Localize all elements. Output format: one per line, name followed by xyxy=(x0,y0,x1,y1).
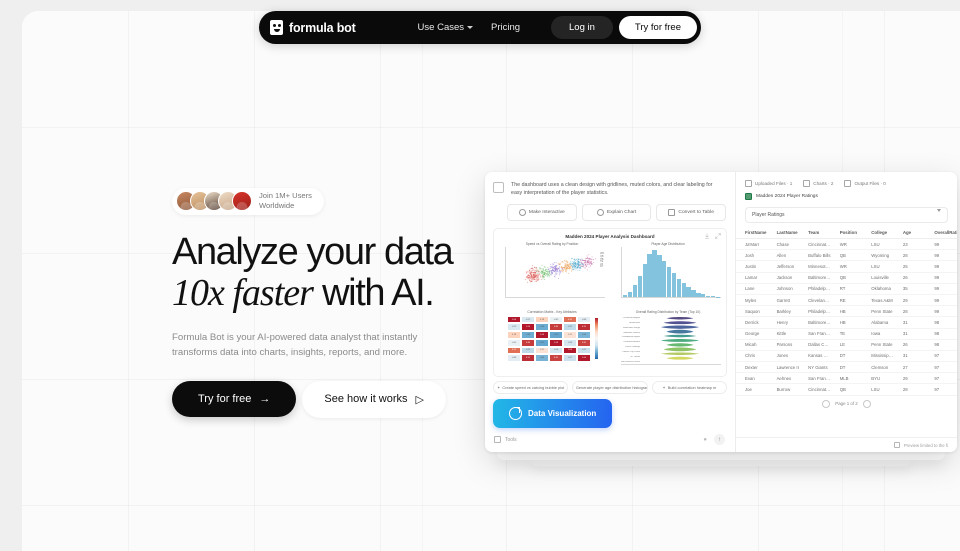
table-cell: 99 xyxy=(925,272,957,283)
table-cell: 31 xyxy=(894,328,926,339)
table-column-header[interactable]: College xyxy=(862,227,894,239)
histogram-bar xyxy=(701,294,705,297)
table-cell: 25 xyxy=(894,261,926,272)
heatmap-cell: -0.48 xyxy=(521,331,535,339)
table-cell: Micah xyxy=(736,339,768,350)
table-row[interactable]: ChrisJonesKansas City Chi...DTMississipp… xyxy=(736,350,957,361)
brand-logo[interactable]: formula bot xyxy=(270,20,356,35)
table-cell: San Francisco ... xyxy=(799,328,831,339)
table-cell: 99 xyxy=(925,261,957,272)
table-cell: Barkley xyxy=(768,306,800,317)
heatmap-cells: 1.00-0.120.18-0.050.62-0.08-0.121.00-0.4… xyxy=(507,316,591,362)
sparkle-icon: ✦ xyxy=(572,385,574,390)
table-cell: Cincinnati Beng... xyxy=(799,384,831,395)
table-column-header[interactable]: Position xyxy=(831,227,863,239)
avatar xyxy=(232,191,252,211)
heatmap-cell: -0.05 xyxy=(507,339,521,347)
table-cell: LSU xyxy=(862,384,894,395)
heatmap-cell: 1.00 xyxy=(535,331,549,339)
panel-violin: Overall Rating Distribution by Team (Top… xyxy=(610,307,726,374)
suggestion-chips: ✦ Create speed vs catcing bubble plot ✦ … xyxy=(485,377,735,397)
table-cell: 98 xyxy=(925,328,957,339)
heading-italic: 10x faster xyxy=(172,272,313,314)
heatmap-cell: 1.00 xyxy=(549,339,563,347)
file-stats: Uploaded Files · 1 Charts · 2 Output Fil… xyxy=(736,172,957,187)
panel-heatmap: Correlation Matrix - Key Attributes 1.00… xyxy=(494,307,610,374)
table-cell: LSU xyxy=(862,239,894,250)
histogram-bar xyxy=(691,290,695,297)
violin-shape xyxy=(666,329,693,333)
table-header-row: FirstNameLastNameTeamPositionCollegeAgeO… xyxy=(736,227,957,239)
stat-charts-label: Charts · 2 xyxy=(813,181,833,186)
violin-category-label: Philadelphia Eagles xyxy=(615,336,640,338)
violin-shape xyxy=(664,321,697,324)
table-cell: 29 xyxy=(894,294,926,305)
stat-output-files: Output Files · 0 xyxy=(844,180,885,187)
table-body: Ja'MarrChaseCincinnati Beng...WRLSU2399J… xyxy=(736,239,957,396)
table-row[interactable]: LamarJacksonBaltimore RavensQBLouisville… xyxy=(736,272,957,283)
suggestion-label: Build correlation heatmap m xyxy=(668,385,716,390)
table-cell: RE xyxy=(831,294,863,305)
violin-shape xyxy=(664,347,697,351)
table-cell: Burrow xyxy=(768,384,800,395)
table-cell: Chase xyxy=(768,239,800,250)
histogram-plot xyxy=(614,247,722,302)
data-visualization-button[interactable]: Data Visualization xyxy=(493,399,612,428)
table-cell: Minnesota Vikin... xyxy=(799,261,831,272)
message-action-chips: Make Interactive Explain Chart Convert t… xyxy=(485,197,735,221)
histogram-bar xyxy=(623,295,627,297)
table-cell: HB xyxy=(831,317,863,328)
nav-item-pricing[interactable]: Pricing xyxy=(491,22,520,33)
histogram-bar xyxy=(682,283,686,297)
heatmap-cell: 0.91 xyxy=(521,354,535,362)
violin-category-label: Baltimore Ravens xyxy=(615,332,640,334)
table-cell: 97 xyxy=(925,384,957,395)
arrow-right-icon: → xyxy=(259,393,270,405)
heatmap-cell: 0.81 xyxy=(549,354,563,362)
table-cell: George xyxy=(736,328,768,339)
scatter-x-axis xyxy=(505,297,605,298)
prev-page-button[interactable] xyxy=(822,400,830,408)
table-cell: Oklahoma xyxy=(862,283,894,294)
table-cell: Jackson xyxy=(768,272,800,283)
table-row[interactable]: MicahParsonsDallas CowboysLEPenn State26… xyxy=(736,339,957,350)
try-for-free-button-nav[interactable]: Try for free xyxy=(619,16,697,39)
table-cell: 23 xyxy=(894,239,926,250)
histogram-y-axis xyxy=(621,247,622,297)
histogram-bar xyxy=(638,276,642,297)
table-cell: 98 xyxy=(925,339,957,350)
heatmap-cell: 0.18 xyxy=(507,331,521,339)
violin-shape xyxy=(666,317,693,319)
table-cell: Texas A&M xyxy=(862,294,894,305)
table-cell: 35 xyxy=(894,283,926,294)
stat-uploaded-files: Uploaded Files · 1 xyxy=(745,180,792,187)
heatmap-cell: -0.44 xyxy=(577,331,591,339)
violin-category-label: Buffalo Bills xyxy=(615,322,640,324)
table-cell: Wyoming xyxy=(862,250,894,261)
panel-histogram-title: Player Age Distribution xyxy=(614,242,722,246)
violin-plot: Cincinnati BengalsBuffalo BillsMinnesota… xyxy=(614,315,722,370)
heatmap-cell: -0.52 xyxy=(549,331,563,339)
data-pane: Uploaded Files · 1 Charts · 2 Output Fil… xyxy=(736,172,957,452)
navbar: formula bot Use Cases Pricing Log in Try… xyxy=(259,11,701,44)
table-cell: Lawrence II xyxy=(768,362,800,373)
convert-to-table-label: Convert to Table xyxy=(678,210,714,215)
histogram-bar xyxy=(686,287,690,297)
table-cell: 31 xyxy=(894,317,926,328)
table-cell: Chris xyxy=(736,350,768,361)
table-cell: Kansas City Chi... xyxy=(799,350,831,361)
heatmap-cell: 0.18 xyxy=(535,316,549,324)
assistant-avatar-icon xyxy=(493,182,504,193)
panel-heatmap-title: Correlation Matrix - Key Attributes xyxy=(498,310,606,314)
heatmap-cell: 0.84 xyxy=(521,339,535,347)
heatmap-cell: -0.17 xyxy=(577,347,591,355)
table-cell: Penn State xyxy=(862,339,894,350)
table-row[interactable]: Ja'MarrChaseCincinnati Beng...WRLSU2399 xyxy=(736,239,957,250)
info-icon xyxy=(597,209,604,216)
table-cell: Kittle xyxy=(768,328,800,339)
social-proof-line1: Join 1M+ Users xyxy=(259,191,312,201)
heatmap-cell: -0.21 xyxy=(521,347,535,355)
heatmap-cell: -0.12 xyxy=(507,323,521,331)
table-row[interactable]: LaneJohnsonPhiladelphia Ea...RTOklahoma3… xyxy=(736,283,957,294)
table-cell: Allen xyxy=(768,250,800,261)
violin-shape xyxy=(666,356,693,359)
violin-category-label: NY Giants xyxy=(615,356,640,358)
heatmap-cell: -0.14 xyxy=(549,347,563,355)
table-cell: 27 xyxy=(894,362,926,373)
table-cell: Joe xyxy=(736,384,768,395)
table-cell: Dallas Cowboys xyxy=(799,339,831,350)
info-icon xyxy=(894,442,900,448)
histogram-bar xyxy=(672,273,676,297)
chart-card: Madden 2024 Player Analysis Dashboard Sp… xyxy=(493,228,727,377)
table-cell: LE xyxy=(831,339,863,350)
table-cell: Buffalo Bills xyxy=(799,250,831,261)
suggestion-chip[interactable]: ✦ Create speed vs catcing bubble plot xyxy=(493,381,568,394)
hero-cta-group: Try for free → See how it works ▷ xyxy=(172,381,472,418)
mode-pill-wrap: Data Visualization xyxy=(485,397,735,428)
table-cell: 98 xyxy=(925,317,957,328)
table-cell: Clemson xyxy=(862,362,894,373)
table-column-header[interactable]: FirstName xyxy=(736,227,768,239)
social-proof-badge: Join 1M+ Users Worldwide xyxy=(172,188,324,215)
violin-category-label: Dallas Cowboys xyxy=(615,346,640,348)
histogram-bar xyxy=(647,254,651,297)
table-row[interactable]: GeorgeKittleSan Francisco ...TEIowa3198 xyxy=(736,328,957,339)
histogram-bar xyxy=(628,292,632,298)
social-proof-text: Join 1M+ Users Worldwide xyxy=(259,191,312,212)
table-cell: Louisville xyxy=(862,272,894,283)
table-cell: Philadelphia Ea... xyxy=(799,306,831,317)
sheet-select[interactable]: Player Ratings xyxy=(745,207,948,223)
violin-shape xyxy=(664,335,697,337)
table-cell: NY Giants xyxy=(799,362,831,373)
heatmap-cell: 1.00 xyxy=(507,316,521,324)
nav-links: Use Cases Pricing xyxy=(418,22,521,33)
see-how-it-works-button[interactable]: See how it works ▷ xyxy=(302,381,446,418)
assistant-message-text: The dashboard uses a clean design with g… xyxy=(511,181,725,197)
panel-histogram: Player Age Distribution xyxy=(610,239,726,306)
table-cell: 99 xyxy=(925,283,957,294)
chart-icon xyxy=(803,180,810,187)
table-cell: San Francisco ... xyxy=(799,373,831,384)
table-pager: Page 1 of 2 xyxy=(736,396,957,408)
see-how-it-works-label: See how it works xyxy=(324,393,407,405)
table-cell: RT xyxy=(831,283,863,294)
pager-label: Page 1 of 2 xyxy=(835,401,857,406)
table-cell: DT xyxy=(831,362,863,373)
table-cell: 26 xyxy=(894,339,926,350)
table-cell: QB xyxy=(831,272,863,283)
chevron-down-icon xyxy=(937,212,941,218)
excel-file-icon xyxy=(745,193,752,200)
panel-violin-title: Overall Rating Distribution by Team (Top… xyxy=(614,310,722,314)
table-cell: Josh xyxy=(736,250,768,261)
table-column-header[interactable]: Team xyxy=(799,227,831,239)
login-button[interactable]: Log in xyxy=(551,16,613,39)
heatmap-cell: -0.08 xyxy=(577,316,591,324)
histogram-bar xyxy=(696,293,700,298)
suggestion-label: Generate player age distribution histogr… xyxy=(576,385,648,390)
violin-shapes xyxy=(640,315,720,364)
table-cell: Justin xyxy=(736,261,768,272)
hero-section: Join 1M+ Users Worldwide Analyze your da… xyxy=(172,188,472,418)
table-cell: Cincinnati Beng... xyxy=(799,239,831,250)
uploaded-file-row[interactable]: Madden 2024 Player Ratings xyxy=(736,187,957,200)
explain-chart-button[interactable]: Explain Chart xyxy=(582,204,652,221)
heatmap-cell: 1.00 xyxy=(521,323,535,331)
social-proof-line2: Worldwide xyxy=(259,201,312,211)
table-cell: 99 xyxy=(925,294,957,305)
mic-icon[interactable]: ● xyxy=(703,437,707,443)
table-row[interactable]: JoshAllenBuffalo BillsQBWyoming2899 xyxy=(736,250,957,261)
heatmap-cell: -0.44 xyxy=(535,354,549,362)
scatter-legend: WR QB HB TE LB DT xyxy=(600,253,604,268)
violin-category-label: San Francisco 49ers xyxy=(615,361,640,363)
histogram-bar xyxy=(662,261,666,297)
table-cell: TE xyxy=(831,328,863,339)
convert-to-table-button[interactable]: Convert to Table xyxy=(656,204,726,221)
heatmap-plot: 1.00-0.120.18-0.050.62-0.08-0.121.00-0.4… xyxy=(498,315,606,370)
heatmap-cell: -0.48 xyxy=(535,323,549,331)
histogram-bars xyxy=(623,250,720,297)
footer-note: Preview limited to the fi xyxy=(904,443,948,448)
heatmap-cell: 0.11 xyxy=(535,347,549,355)
table-cell: Mississippi St. xyxy=(862,350,894,361)
table-cell: Baltimore Ravens xyxy=(799,317,831,328)
table-cell: Evan xyxy=(736,373,768,384)
table-cell: Philadelphia Ea... xyxy=(799,283,831,294)
chevron-down-icon xyxy=(467,26,473,29)
histogram-bar xyxy=(652,250,656,297)
violin-x-axis xyxy=(621,364,721,365)
heatmap-cell: -0.08 xyxy=(507,354,521,362)
table-cell: Johnson xyxy=(768,283,800,294)
table-cell: Ja'Marr xyxy=(736,239,768,250)
heatmap-cell: -0.14 xyxy=(563,339,577,347)
violin-category-labels: Cincinnati BengalsBuffalo BillsMinnesota… xyxy=(615,316,640,364)
table-cell: Myles xyxy=(736,294,768,305)
table-row[interactable]: JustinJeffersonMinnesota Vikin...WRLSU25… xyxy=(736,261,957,272)
table-cell: Dexter xyxy=(736,362,768,373)
table-icon xyxy=(668,209,675,216)
nav-item-use-cases-label: Use Cases xyxy=(418,22,464,33)
histogram-bar xyxy=(706,296,710,298)
formula-bot-document-face-icon xyxy=(270,20,283,35)
tools-label[interactable]: Tools xyxy=(505,437,517,443)
heatmap-cell: 1.00 xyxy=(563,347,577,355)
composer-toolbar: Tools ● ↑ xyxy=(485,428,735,452)
suggestion-chip[interactable]: ✦ Generate player age distribution histo… xyxy=(572,381,647,394)
table-row[interactable]: SaquonBarkleyPhiladelphia Ea...HBPenn St… xyxy=(736,306,957,317)
violin-shape xyxy=(666,343,693,346)
table-cell: Cleveland Brow... xyxy=(799,294,831,305)
chat-pane: The dashboard uses a clean design with g… xyxy=(485,172,736,452)
page-title: Analyze your data 10x faster with AI. xyxy=(172,232,472,313)
composer-actions: ● ↑ xyxy=(703,434,725,445)
chart-grid: Speed vs Overall Rating by Position WR Q… xyxy=(494,239,726,374)
try-for-free-button[interactable]: Try for free → xyxy=(172,381,296,417)
send-icon[interactable]: ↑ xyxy=(714,434,725,445)
heatmap-cell: -0.17 xyxy=(563,354,577,362)
table-row[interactable]: DerrickHenryBaltimore RavensHBAlabama319… xyxy=(736,317,957,328)
table-cell: Saquon xyxy=(736,306,768,317)
heatmap-cell: -0.12 xyxy=(521,316,535,324)
avatar-group xyxy=(176,191,252,211)
table-cell: Penn State xyxy=(862,306,894,317)
table-cell: WR xyxy=(831,261,863,272)
heatmap-cell: -0.52 xyxy=(535,339,549,347)
violin-shape xyxy=(661,325,699,328)
table-cell: 97 xyxy=(925,373,957,384)
table-cell: Garrett xyxy=(768,294,800,305)
heatmap-cell: 0.91 xyxy=(577,323,591,331)
violin-category-label: Minnesota Vikings xyxy=(615,327,640,329)
table-cell: 99 xyxy=(925,239,957,250)
upload-icon xyxy=(745,180,752,187)
cursor-icon xyxy=(519,209,526,216)
table-cell: Iowa xyxy=(862,328,894,339)
scatter-plot: WR QB HB TE LB DT xyxy=(498,247,606,302)
table-column-header[interactable]: OverallRating xyxy=(925,227,957,239)
table-column-header[interactable]: Age xyxy=(894,227,926,239)
table-row[interactable]: EvanAehnexSan Francisco ...MLBBYU2997 xyxy=(736,373,957,384)
nav-actions: Log in Try for free xyxy=(551,16,697,39)
violin-shape xyxy=(661,352,699,354)
table-cell: 97 xyxy=(925,362,957,373)
heatmap-cell: 0.62 xyxy=(507,347,521,355)
heatmap-cell: -0.05 xyxy=(549,316,563,324)
table-cell: Lamar xyxy=(736,272,768,283)
violin-shape xyxy=(661,339,699,342)
histogram-bar xyxy=(677,279,681,297)
table-cell: 28 xyxy=(894,306,926,317)
table-cell: BYU xyxy=(862,373,894,384)
table-cell: 28 xyxy=(894,384,926,395)
table-cell: Jefferson xyxy=(768,261,800,272)
table-cell: QB xyxy=(831,250,863,261)
suggestion-chip[interactable]: ✦ Build correlation heatmap m xyxy=(652,381,727,394)
suggestion-label: Create speed vs catcing bubble plot xyxy=(502,385,564,390)
histogram-bar xyxy=(633,285,637,297)
table-cell: Derrick xyxy=(736,317,768,328)
table-cell: Henry xyxy=(768,317,800,328)
table-cell: Jones xyxy=(768,350,800,361)
nav-item-pricing-label: Pricing xyxy=(491,22,520,33)
histogram-bar xyxy=(667,267,671,297)
heading-line-1: Analyze your data xyxy=(172,231,452,273)
panel-scatter: Speed vs Overall Rating by Position WR Q… xyxy=(494,239,610,306)
explain-chart-label: Explain Chart xyxy=(607,210,636,215)
heading-tail: with AI. xyxy=(322,272,433,314)
table-cell: Baltimore Ravens xyxy=(799,272,831,283)
nav-item-use-cases[interactable]: Use Cases xyxy=(418,22,473,33)
stat-output-files-label: Output Files · 0 xyxy=(854,181,885,186)
next-page-button[interactable] xyxy=(863,400,871,408)
table-cell: 31 xyxy=(894,350,926,361)
table-cell: 97 xyxy=(925,350,957,361)
histogram-bar xyxy=(657,255,661,297)
table-cell: Lane xyxy=(736,283,768,294)
try-for-free-label: Try for free xyxy=(198,393,251,405)
violin-category-label: Kansas City Chiefs xyxy=(615,351,640,353)
panel-scatter-title: Speed vs Overall Rating by Position xyxy=(498,242,606,246)
table-cell: 99 xyxy=(925,306,957,317)
table-cell: 99 xyxy=(925,250,957,261)
make-interactive-label: Make Interactive xyxy=(529,210,565,215)
heatmap-cell: 1.00 xyxy=(577,354,591,362)
make-interactive-button[interactable]: Make Interactive xyxy=(507,204,577,221)
histogram-bar xyxy=(711,296,715,297)
table-cell: Aehnex xyxy=(768,373,800,384)
table-row[interactable]: DexterLawrence IINY GiantsDTClemson2797 xyxy=(736,362,957,373)
table-cell: 28 xyxy=(894,250,926,261)
assistant-message: The dashboard uses a clean design with g… xyxy=(485,172,735,197)
table-column-header[interactable]: LastName xyxy=(768,227,800,239)
violin-category-label: Cleveland Browns xyxy=(615,341,640,343)
pie-chart-icon xyxy=(509,407,522,420)
heatmap-cell: 0.62 xyxy=(563,316,577,324)
histogram-bar xyxy=(643,264,647,297)
data-pane-footer: Preview limited to the fi xyxy=(736,437,957,452)
heatmap-cell: 0.11 xyxy=(563,331,577,339)
table-row[interactable]: JoeBurrowCincinnati Beng...QBLSU2897 xyxy=(736,384,957,395)
data-visualization-label: Data Visualization xyxy=(528,409,596,418)
sheet-select-value: Player Ratings xyxy=(752,212,785,218)
table-cell: LSU xyxy=(862,261,894,272)
stat-charts: Charts · 2 xyxy=(803,180,833,187)
data-table: FirstNameLastNameTeamPositionCollegeAgeO… xyxy=(736,227,957,396)
download-icon xyxy=(844,180,851,187)
app-preview-window: The dashboard uses a clean design with g… xyxy=(485,172,957,452)
hero-subtitle: Formula Bot is your AI-powered data anal… xyxy=(172,330,422,361)
table-cell: 29 xyxy=(894,373,926,384)
brand-name: formula bot xyxy=(289,21,356,35)
heatmap-colorbar xyxy=(595,318,598,359)
stat-uploaded-files-label: Uploaded Files · 1 xyxy=(755,181,792,186)
heatmap-cell: 0.81 xyxy=(577,339,591,347)
table-cell: Parsons xyxy=(768,339,800,350)
uploaded-file-name: Madden 2024 Player Ratings xyxy=(756,194,818,199)
table-cell: MLB xyxy=(831,373,863,384)
violin-category-label: Cincinnati Bengals xyxy=(615,317,640,319)
table-cell: 26 xyxy=(894,272,926,283)
table-row[interactable]: MylesGarrettCleveland Brow...RETexas A&M… xyxy=(736,294,957,305)
